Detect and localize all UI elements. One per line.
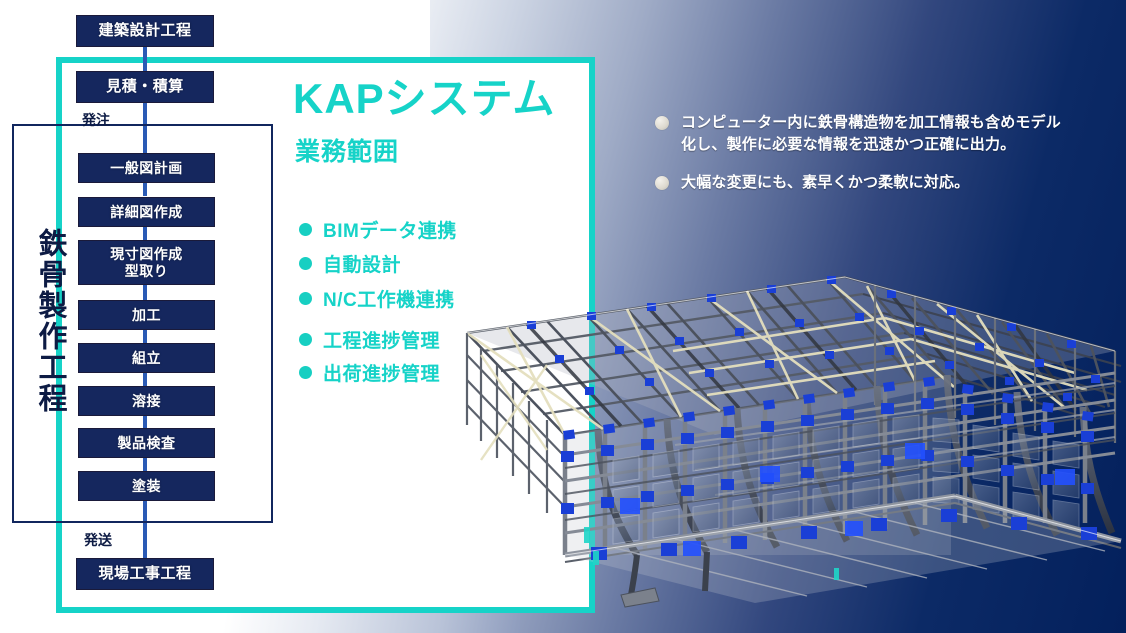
bullet-dot-icon xyxy=(299,257,312,270)
flow-step-welding[interactable]: 溶接 xyxy=(78,386,215,416)
flow-step-architectural-design[interactable]: 建築設計工程 xyxy=(76,15,214,47)
label-order: 発注 xyxy=(82,110,110,130)
kap-subtitle: 業務範囲 xyxy=(295,132,399,168)
kap-feature-label: BIMデータ連携 xyxy=(323,216,457,243)
bullet-dot-icon xyxy=(655,116,669,130)
kap-feature-nc-machine: N/C工作機連携 xyxy=(299,285,455,312)
bullet-dot-icon xyxy=(655,176,669,190)
benefit-item-modeling: コンピューター内に鉄骨構造物を加工情報も含めモデル 化し、製作に必要な情報を迅速… xyxy=(655,112,1105,156)
kap-feature-process-progress: 工程進捗管理 xyxy=(299,326,440,353)
bullet-dot-icon xyxy=(299,292,312,305)
flow-step-estimate[interactable]: 見積・積算 xyxy=(76,71,214,103)
steel-frame-3d-model xyxy=(415,255,1126,633)
kap-feature-auto-design: 自動設計 xyxy=(299,250,401,277)
benefit-line-2: 化し、製作に必要な情報を迅速かつ正確に出力。 xyxy=(681,136,1015,153)
flow-step-detail-drawing[interactable]: 詳細図作成 xyxy=(78,197,215,227)
flow-step-assembly[interactable]: 組立 xyxy=(78,343,215,373)
flow-step-painting[interactable]: 塗装 xyxy=(78,471,215,501)
group-label-vertical: 鉄骨製作工程 xyxy=(18,228,64,414)
bullet-dot-icon xyxy=(299,223,312,236)
flow-step-site-construction[interactable]: 現場工事工程 xyxy=(76,558,214,590)
connector-line xyxy=(143,44,147,72)
bullet-dot-icon xyxy=(299,333,312,346)
kap-feature-shipping-progress: 出荷進捗管理 xyxy=(299,359,440,386)
kap-feature-label: 工程進捗管理 xyxy=(323,326,440,353)
kap-feature-bim: BIMデータ連携 xyxy=(299,216,457,243)
process-flowchart: 鉄骨製作工程 建築設計工程 見積・積算 発注 一般図計画 詳細図作成 現寸図作成… xyxy=(0,0,300,633)
benefit-text: 大幅な変更にも、素早くかつ柔軟に対応。 xyxy=(681,172,969,194)
kap-feature-label: 出荷進捗管理 xyxy=(323,359,440,386)
kap-feature-label: N/C工作機連携 xyxy=(323,285,455,312)
benefit-item-flexibility: 大幅な変更にも、素早くかつ柔軟に対応。 xyxy=(655,172,1105,194)
benefit-line-1: コンピューター内に鉄骨構造物を加工情報も含めモデル xyxy=(681,114,1061,131)
label-shipping: 発送 xyxy=(84,530,112,550)
benefit-text: コンピューター内に鉄骨構造物を加工情報も含めモデル 化し、製作に必要な情報を迅速… xyxy=(681,112,1061,156)
flow-step-product-inspection[interactable]: 製品検査 xyxy=(78,428,215,458)
flow-step-general-drawing-plan[interactable]: 一般図計画 xyxy=(78,153,215,183)
slide-canvas: 鉄骨製作工程 建築設計工程 見積・積算 発注 一般図計画 詳細図作成 現寸図作成… xyxy=(0,0,1126,633)
flow-step-line2: 型取り xyxy=(125,263,169,280)
benefit-line-1: 大幅な変更にも、素早くかつ柔軟に対応。 xyxy=(681,174,969,191)
flow-step-machining[interactable]: 加工 xyxy=(78,300,215,330)
flow-step-full-scale-drawing[interactable]: 現寸図作成 型取り xyxy=(78,240,215,285)
bullet-dot-icon xyxy=(299,366,312,379)
kap-feature-label: 自動設計 xyxy=(323,250,401,277)
flow-step-line1: 現寸図作成 xyxy=(110,246,183,263)
kap-title: KAPシステム xyxy=(293,78,555,120)
